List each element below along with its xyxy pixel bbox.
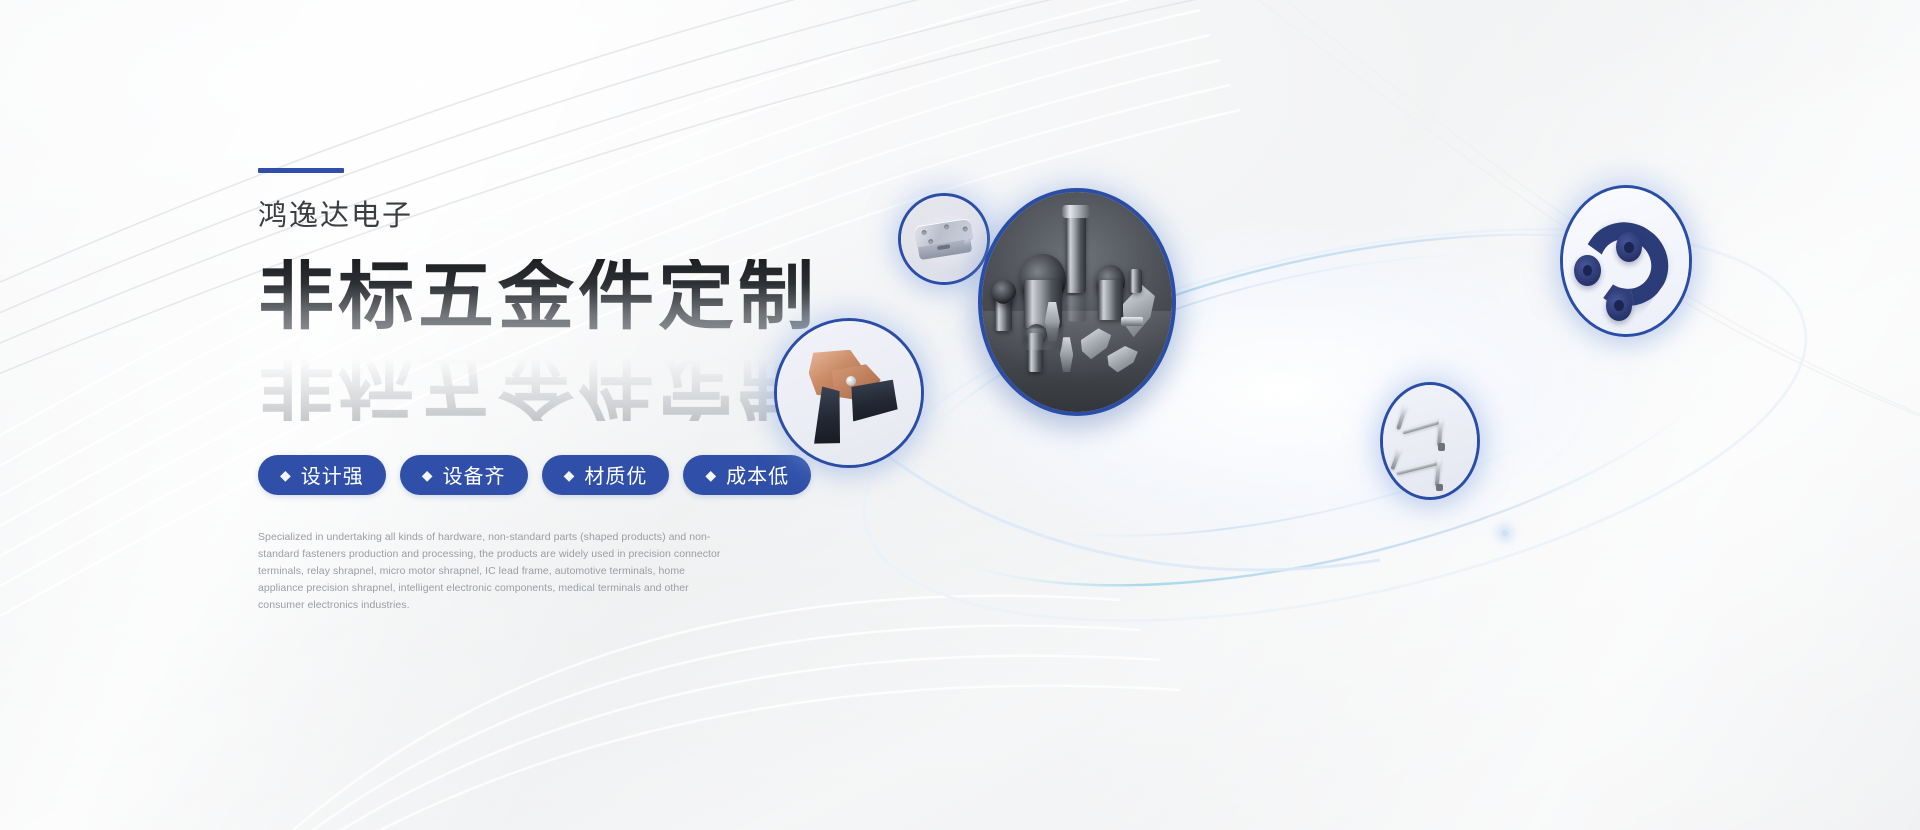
part-shaft [1066, 214, 1087, 293]
battery-clamp-image [777, 321, 921, 465]
part-flat-pin [1121, 317, 1144, 326]
part-shaft-cap [1062, 205, 1091, 218]
product-node-battery-clamp[interactable] [774, 318, 924, 468]
feature-pill-label: 材质优 [584, 460, 647, 489]
wire-tip [1436, 484, 1444, 492]
wire-segment [1391, 448, 1402, 470]
part-bush-body [1098, 280, 1123, 320]
diamond-icon: ◆ [705, 468, 717, 482]
ring-lug [1574, 255, 1600, 286]
metal-enclosure-image [901, 196, 987, 282]
diamond-icon: ◆ [422, 468, 434, 482]
company-description: Specialized in undertaking all kinds of … [258, 529, 728, 614]
wire-segment [1402, 420, 1441, 435]
diamond-icon: ◆ [280, 468, 292, 482]
screw-icon [962, 226, 968, 232]
retaining-ring-image [1563, 188, 1689, 334]
part-reflection [1024, 328, 1062, 350]
ring-lug [1606, 290, 1632, 321]
feature-pill-label: 设备齐 [443, 460, 506, 489]
part-pin [1130, 269, 1141, 293]
headline-reflection: 非标五金件定制 [258, 345, 818, 421]
sparkle-dot [1502, 530, 1508, 536]
clamp-handle-left [814, 386, 844, 445]
wire-segment [1396, 460, 1439, 475]
product-node-retaining-ring[interactable] [1560, 185, 1692, 337]
precision-parts-image [982, 192, 1172, 412]
enclosure-lug [963, 238, 971, 246]
accent-bar [258, 168, 344, 173]
feature-pill-material[interactable]: ◆ 材质优 [542, 455, 670, 495]
clamp-pivot-pin [846, 376, 856, 386]
product-showcase [760, 120, 1860, 660]
product-node-precision-parts[interactable] [978, 188, 1176, 416]
screw-icon [943, 224, 949, 230]
part-reflection [1066, 295, 1087, 321]
wire-terminals-image [1383, 385, 1477, 497]
wire-segment [1396, 405, 1407, 430]
product-node-metal-enclosure[interactable] [898, 193, 990, 285]
feature-pill-equipment[interactable]: ◆ 设备齐 [400, 455, 528, 495]
wire-tip [1438, 443, 1446, 451]
part-connector-head [992, 280, 1017, 304]
screw-icon [921, 229, 927, 235]
diamond-icon: ◆ [564, 468, 576, 482]
enclosure-shape [913, 218, 974, 261]
product-node-wire-terminals[interactable] [1380, 382, 1480, 500]
feature-pill-label: 设计强 [301, 460, 364, 489]
feature-pill-design[interactable]: ◆ 设计强 [258, 455, 386, 495]
hero-banner: 鸿逸达电子 非标五金件定制 非标五金件定制 ◆ 设计强 ◆ 设备齐 ◆ 材质优 … [0, 0, 1920, 830]
